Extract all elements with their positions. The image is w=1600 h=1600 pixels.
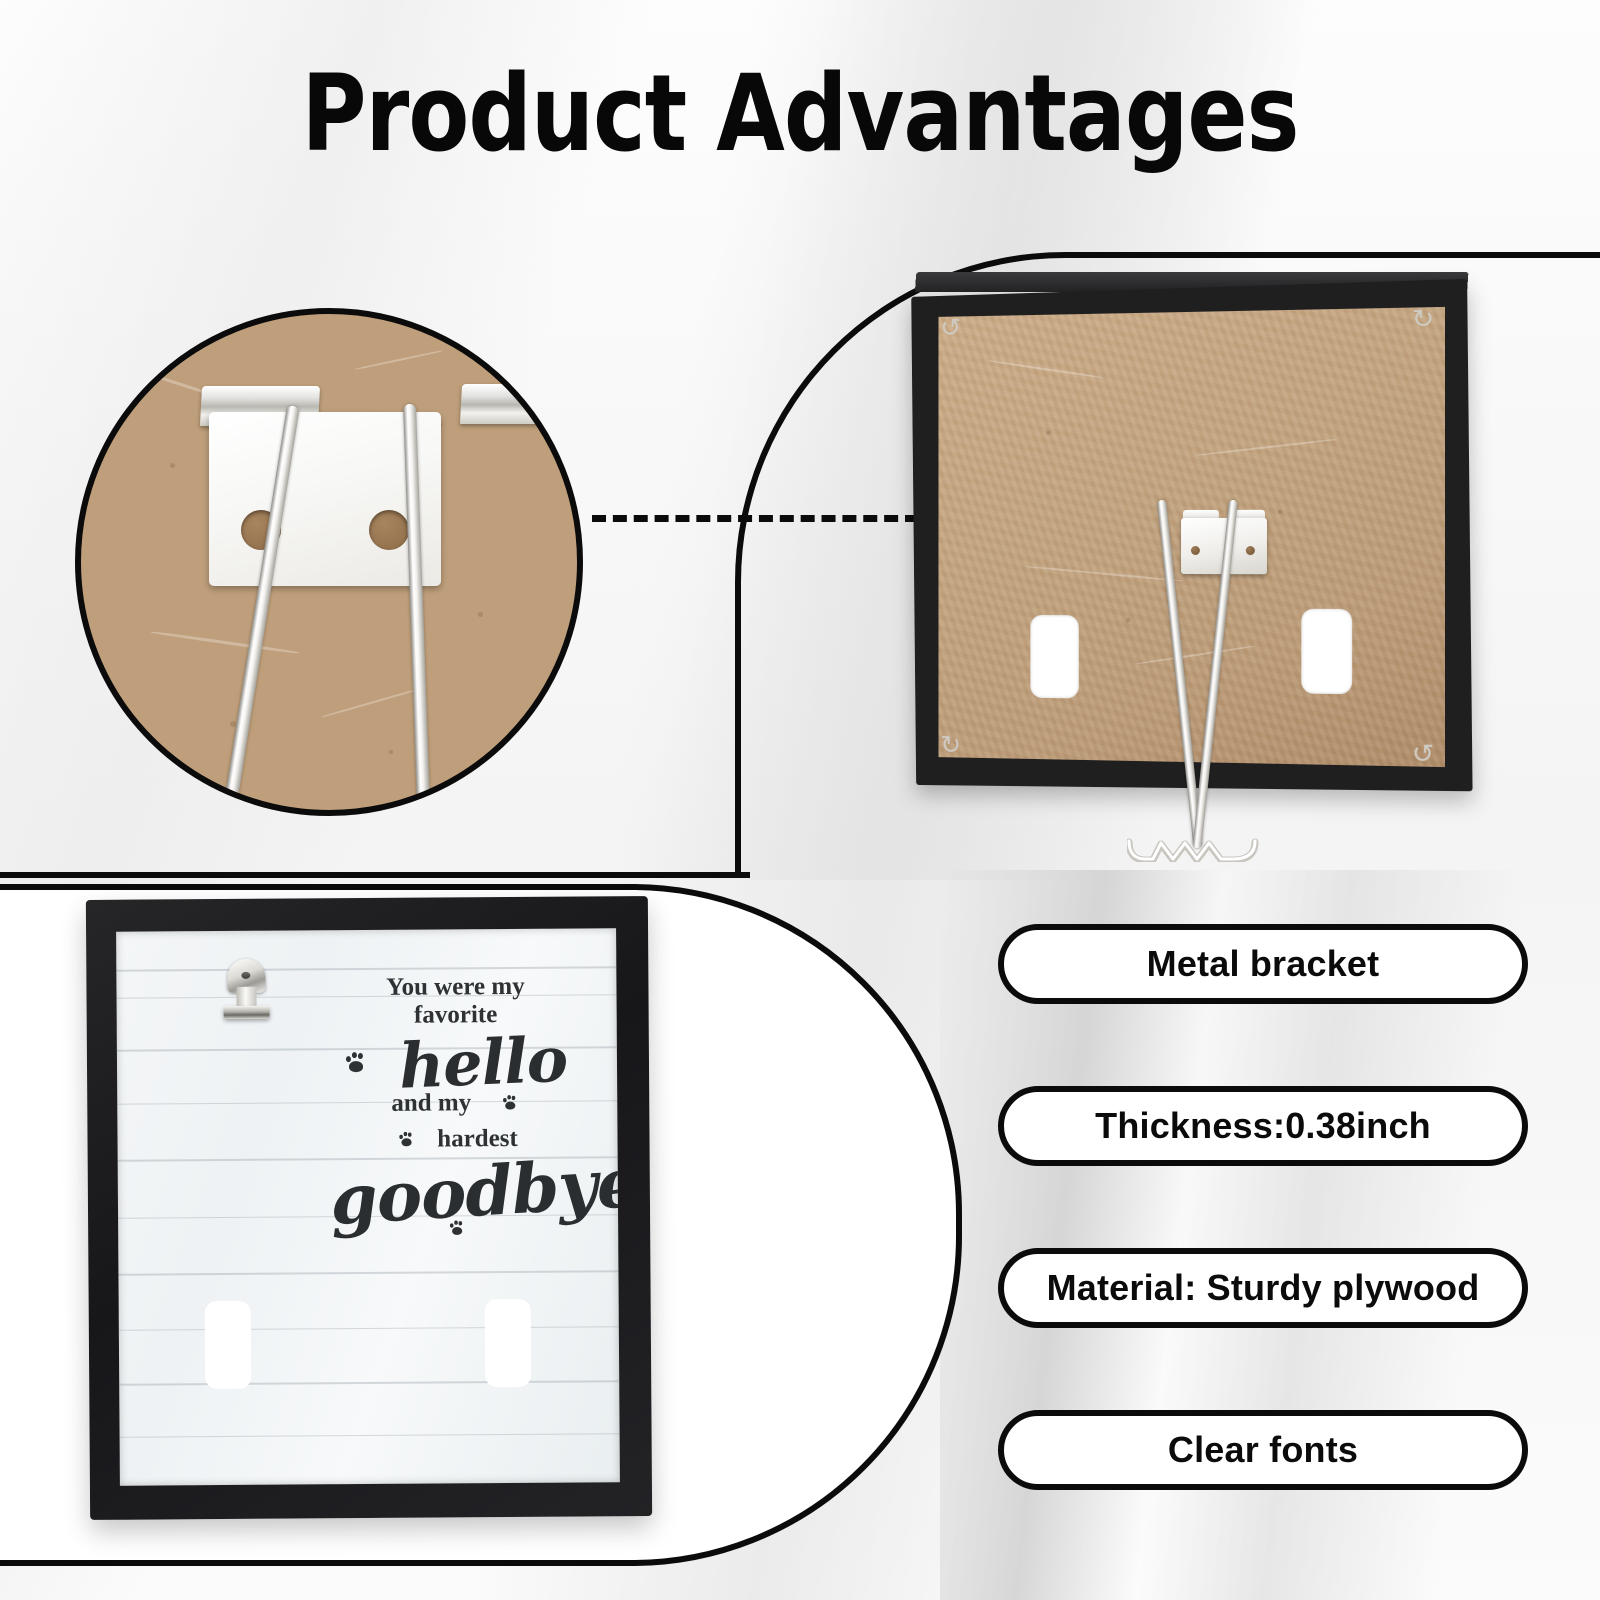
hanging-slot-left [205,1301,252,1389]
corner-staple-top-left: ↺ [940,314,969,342]
paw-print-icon [449,1220,465,1236]
hanging-slot-right [485,1299,532,1387]
frame-art-board: You were my favorite hello and my [116,928,620,1485]
artwork-quote: You were my favorite hello and my [320,972,592,1244]
paw-print-icon [502,1095,518,1111]
section-divider [0,872,750,878]
page-title: Product Advantages [56,58,1544,169]
easel-leg-right [1192,500,1238,849]
feature-pill-metal-bracket[interactable]: Metal bracket [998,924,1528,1004]
bracket-tab-right [460,384,580,424]
hanging-slot-left [1030,615,1078,699]
quote-script-hello: hello [398,1030,568,1096]
hanging-slot-right [1301,609,1352,695]
easel-foot-wave [1127,836,1267,862]
corner-staple-bottom-left: ↻ [940,732,969,760]
feature-pill-thickness[interactable]: Thickness:0.38inch [998,1086,1528,1166]
clip-center-dot [241,972,250,979]
easel-stand [1105,500,1285,870]
feature-list: Metal bracket Thickness:0.38inch Materia… [998,924,1528,1490]
infographic-canvas: Product Advantages [0,0,1600,1600]
metal-bracket-closeup-inset [75,308,583,816]
bracket-screw-hole-right [369,510,409,550]
corner-staple-top-right: ↻ [1412,305,1443,334]
easel-leg-left [1157,500,1203,849]
paw-print-icon [345,1052,367,1074]
feature-pill-material[interactable]: Material: Sturdy plywood [998,1248,1528,1328]
quote-line-1: You were my [320,972,590,1002]
feature-pill-clear-fonts[interactable]: Clear fonts [998,1410,1528,1490]
corner-staple-bottom-right: ↺ [1412,740,1443,769]
clip-jaw [224,1006,270,1019]
binder-clip [223,959,269,1021]
frame-front-photo: You were my favorite hello and my [86,896,652,1520]
paw-print-icon [398,1131,414,1147]
quote-line-4: hardest [437,1124,518,1153]
